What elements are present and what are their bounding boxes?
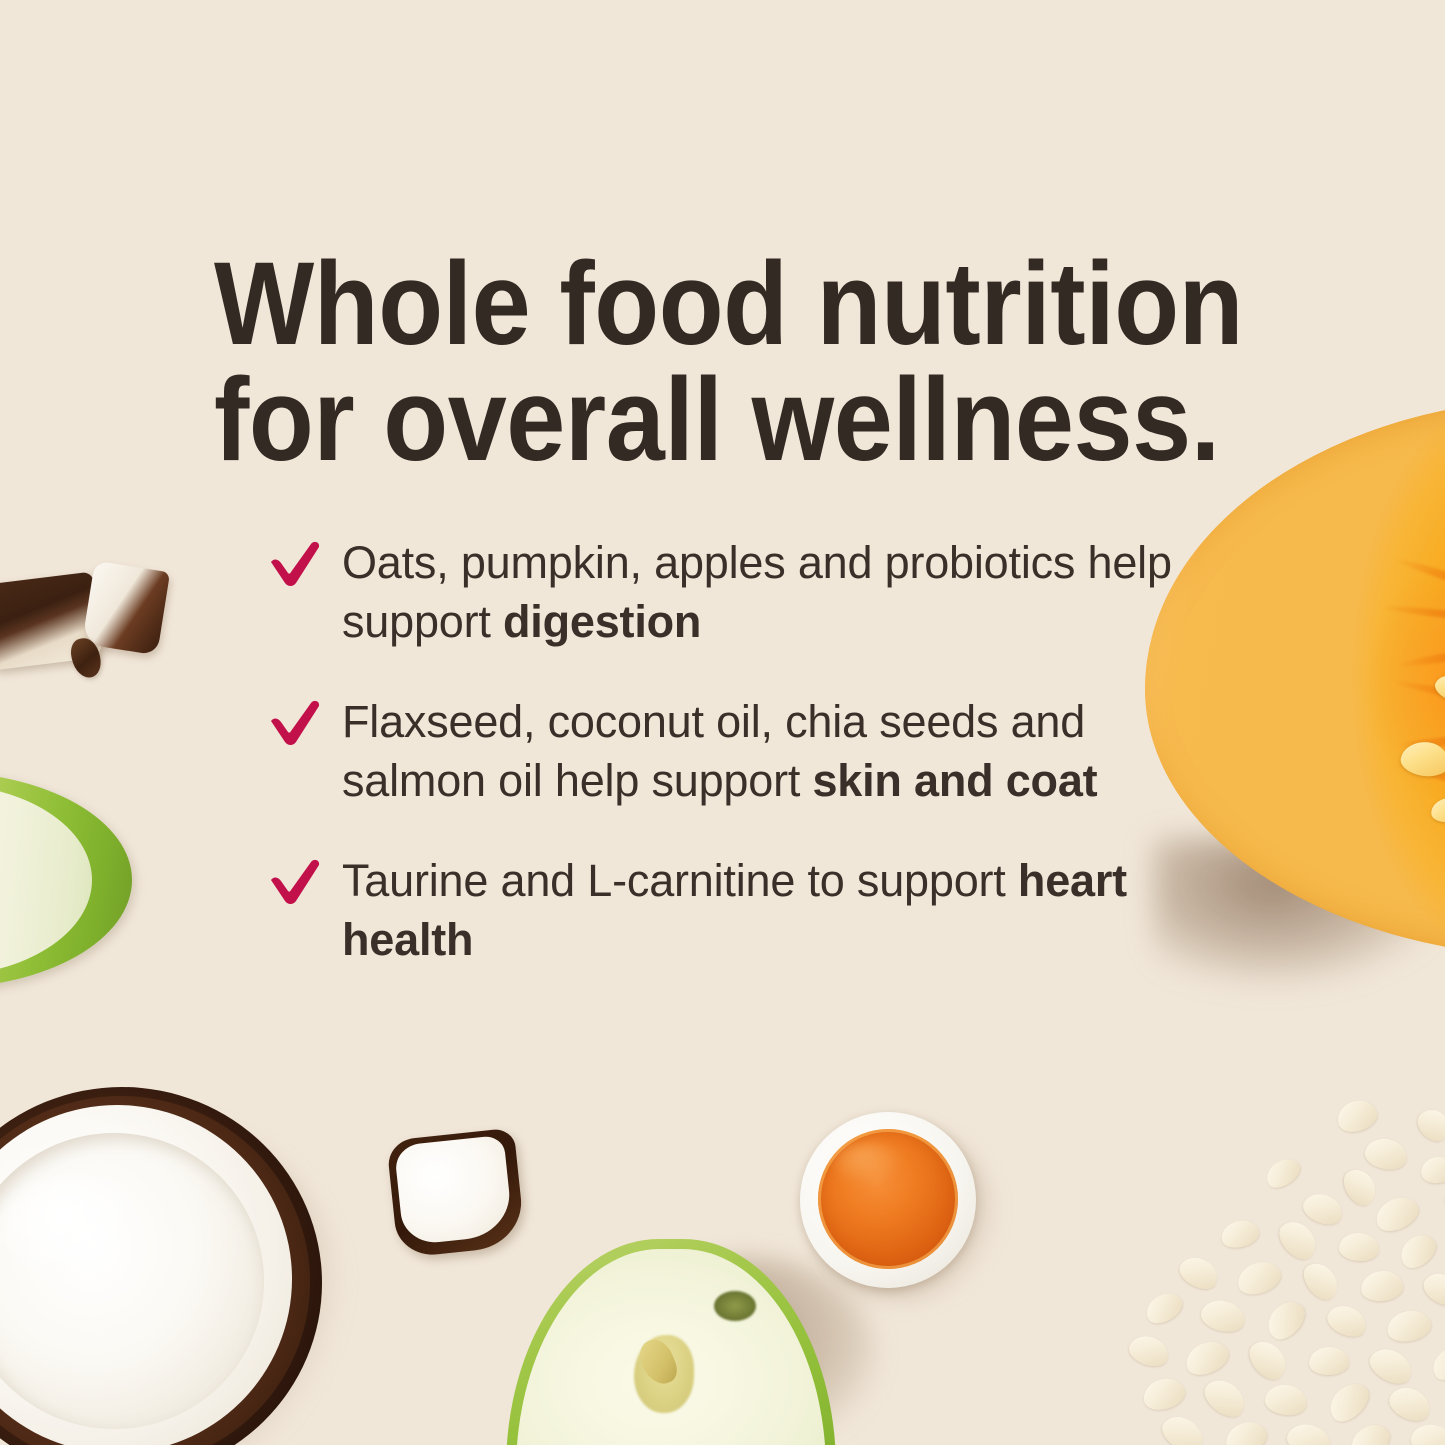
oat-flake xyxy=(1233,1256,1285,1299)
oat-flake xyxy=(1385,1381,1436,1426)
oat-flake xyxy=(1198,1373,1251,1424)
oat-flake xyxy=(1419,1155,1445,1185)
oat-flake xyxy=(1125,1331,1172,1371)
oat-flake xyxy=(1409,1421,1445,1445)
oat-flake xyxy=(1384,1307,1433,1345)
oat-flake xyxy=(1362,1135,1409,1173)
oat-flake xyxy=(1309,1346,1350,1375)
oat-flake xyxy=(1140,1374,1189,1414)
list-item-text: Oats, pumpkin, apples and probiotics hel… xyxy=(342,537,1172,647)
oat-flake xyxy=(1243,1334,1293,1385)
benefits-list: Oats, pumpkin, apples and probiotics hel… xyxy=(268,534,1178,969)
oat-flake xyxy=(1338,1163,1382,1210)
oat-flake xyxy=(1412,1103,1445,1147)
oat-flake xyxy=(1218,1217,1261,1251)
oat-flake xyxy=(1221,1416,1271,1445)
oat-flake xyxy=(1394,1228,1441,1274)
apple-half-image xyxy=(506,1239,848,1445)
oat-flake xyxy=(1198,1296,1248,1336)
oat-flake xyxy=(1360,1269,1405,1303)
page-title: Whole food nutrition for overall wellnes… xyxy=(214,247,1168,478)
oat-flake xyxy=(1333,1096,1380,1137)
oat-flake xyxy=(1364,1342,1417,1390)
list-item: Flaxseed, coconut oil, chia seeds and sa… xyxy=(268,693,1178,810)
oat-flake xyxy=(1263,1382,1309,1418)
check-icon xyxy=(268,858,324,906)
oat-flake xyxy=(1371,1191,1424,1237)
oat-flake xyxy=(1261,1294,1311,1345)
oat-flake xyxy=(1299,1189,1347,1230)
coconut-chunk-image xyxy=(82,561,170,656)
list-item-text: Taurine and L-carnitine to support heart… xyxy=(342,855,1127,965)
check-icon xyxy=(268,540,324,588)
apple-wedge-image xyxy=(0,772,132,988)
oat-flake xyxy=(1441,1183,1445,1225)
oat-flake xyxy=(1323,1376,1375,1428)
oat-flake xyxy=(1273,1214,1323,1265)
oat-flake xyxy=(1156,1409,1209,1445)
list-item: Taurine and L-carnitine to support heart… xyxy=(268,852,1178,969)
oat-flake xyxy=(1181,1335,1233,1380)
rolled-oats-image xyxy=(1125,1095,1445,1445)
oat-flake xyxy=(1418,1267,1445,1311)
headline-line-1: Whole food nutrition xyxy=(214,247,1168,363)
oat-flake xyxy=(1261,1153,1304,1193)
salmon-oil-bowl-image xyxy=(800,1112,990,1302)
list-item: Oats, pumpkin, apples and probiotics hel… xyxy=(268,534,1178,651)
oat-flake xyxy=(1427,1340,1445,1386)
oat-flake xyxy=(1298,1257,1345,1306)
headline-line-2: for overall wellness. xyxy=(214,363,1168,479)
oat-flake xyxy=(1175,1251,1223,1295)
oat-flake xyxy=(1284,1420,1335,1445)
oat-flake xyxy=(1344,1417,1396,1445)
oat-flake xyxy=(1141,1287,1187,1329)
oil-highlight xyxy=(834,1142,904,1184)
check-icon xyxy=(268,699,324,747)
coconut-highlight xyxy=(0,1175,150,1285)
oat-flake xyxy=(1338,1232,1380,1263)
coconut-half-image xyxy=(0,1087,342,1445)
oat-flake xyxy=(1323,1300,1371,1342)
coconut-piece-image xyxy=(386,1128,526,1259)
list-item-text: Flaxseed, coconut oil, chia seeds and sa… xyxy=(342,696,1097,806)
promo-card: Whole food nutrition for overall wellnes… xyxy=(0,0,1445,1445)
apple-stem-well xyxy=(714,1291,756,1321)
